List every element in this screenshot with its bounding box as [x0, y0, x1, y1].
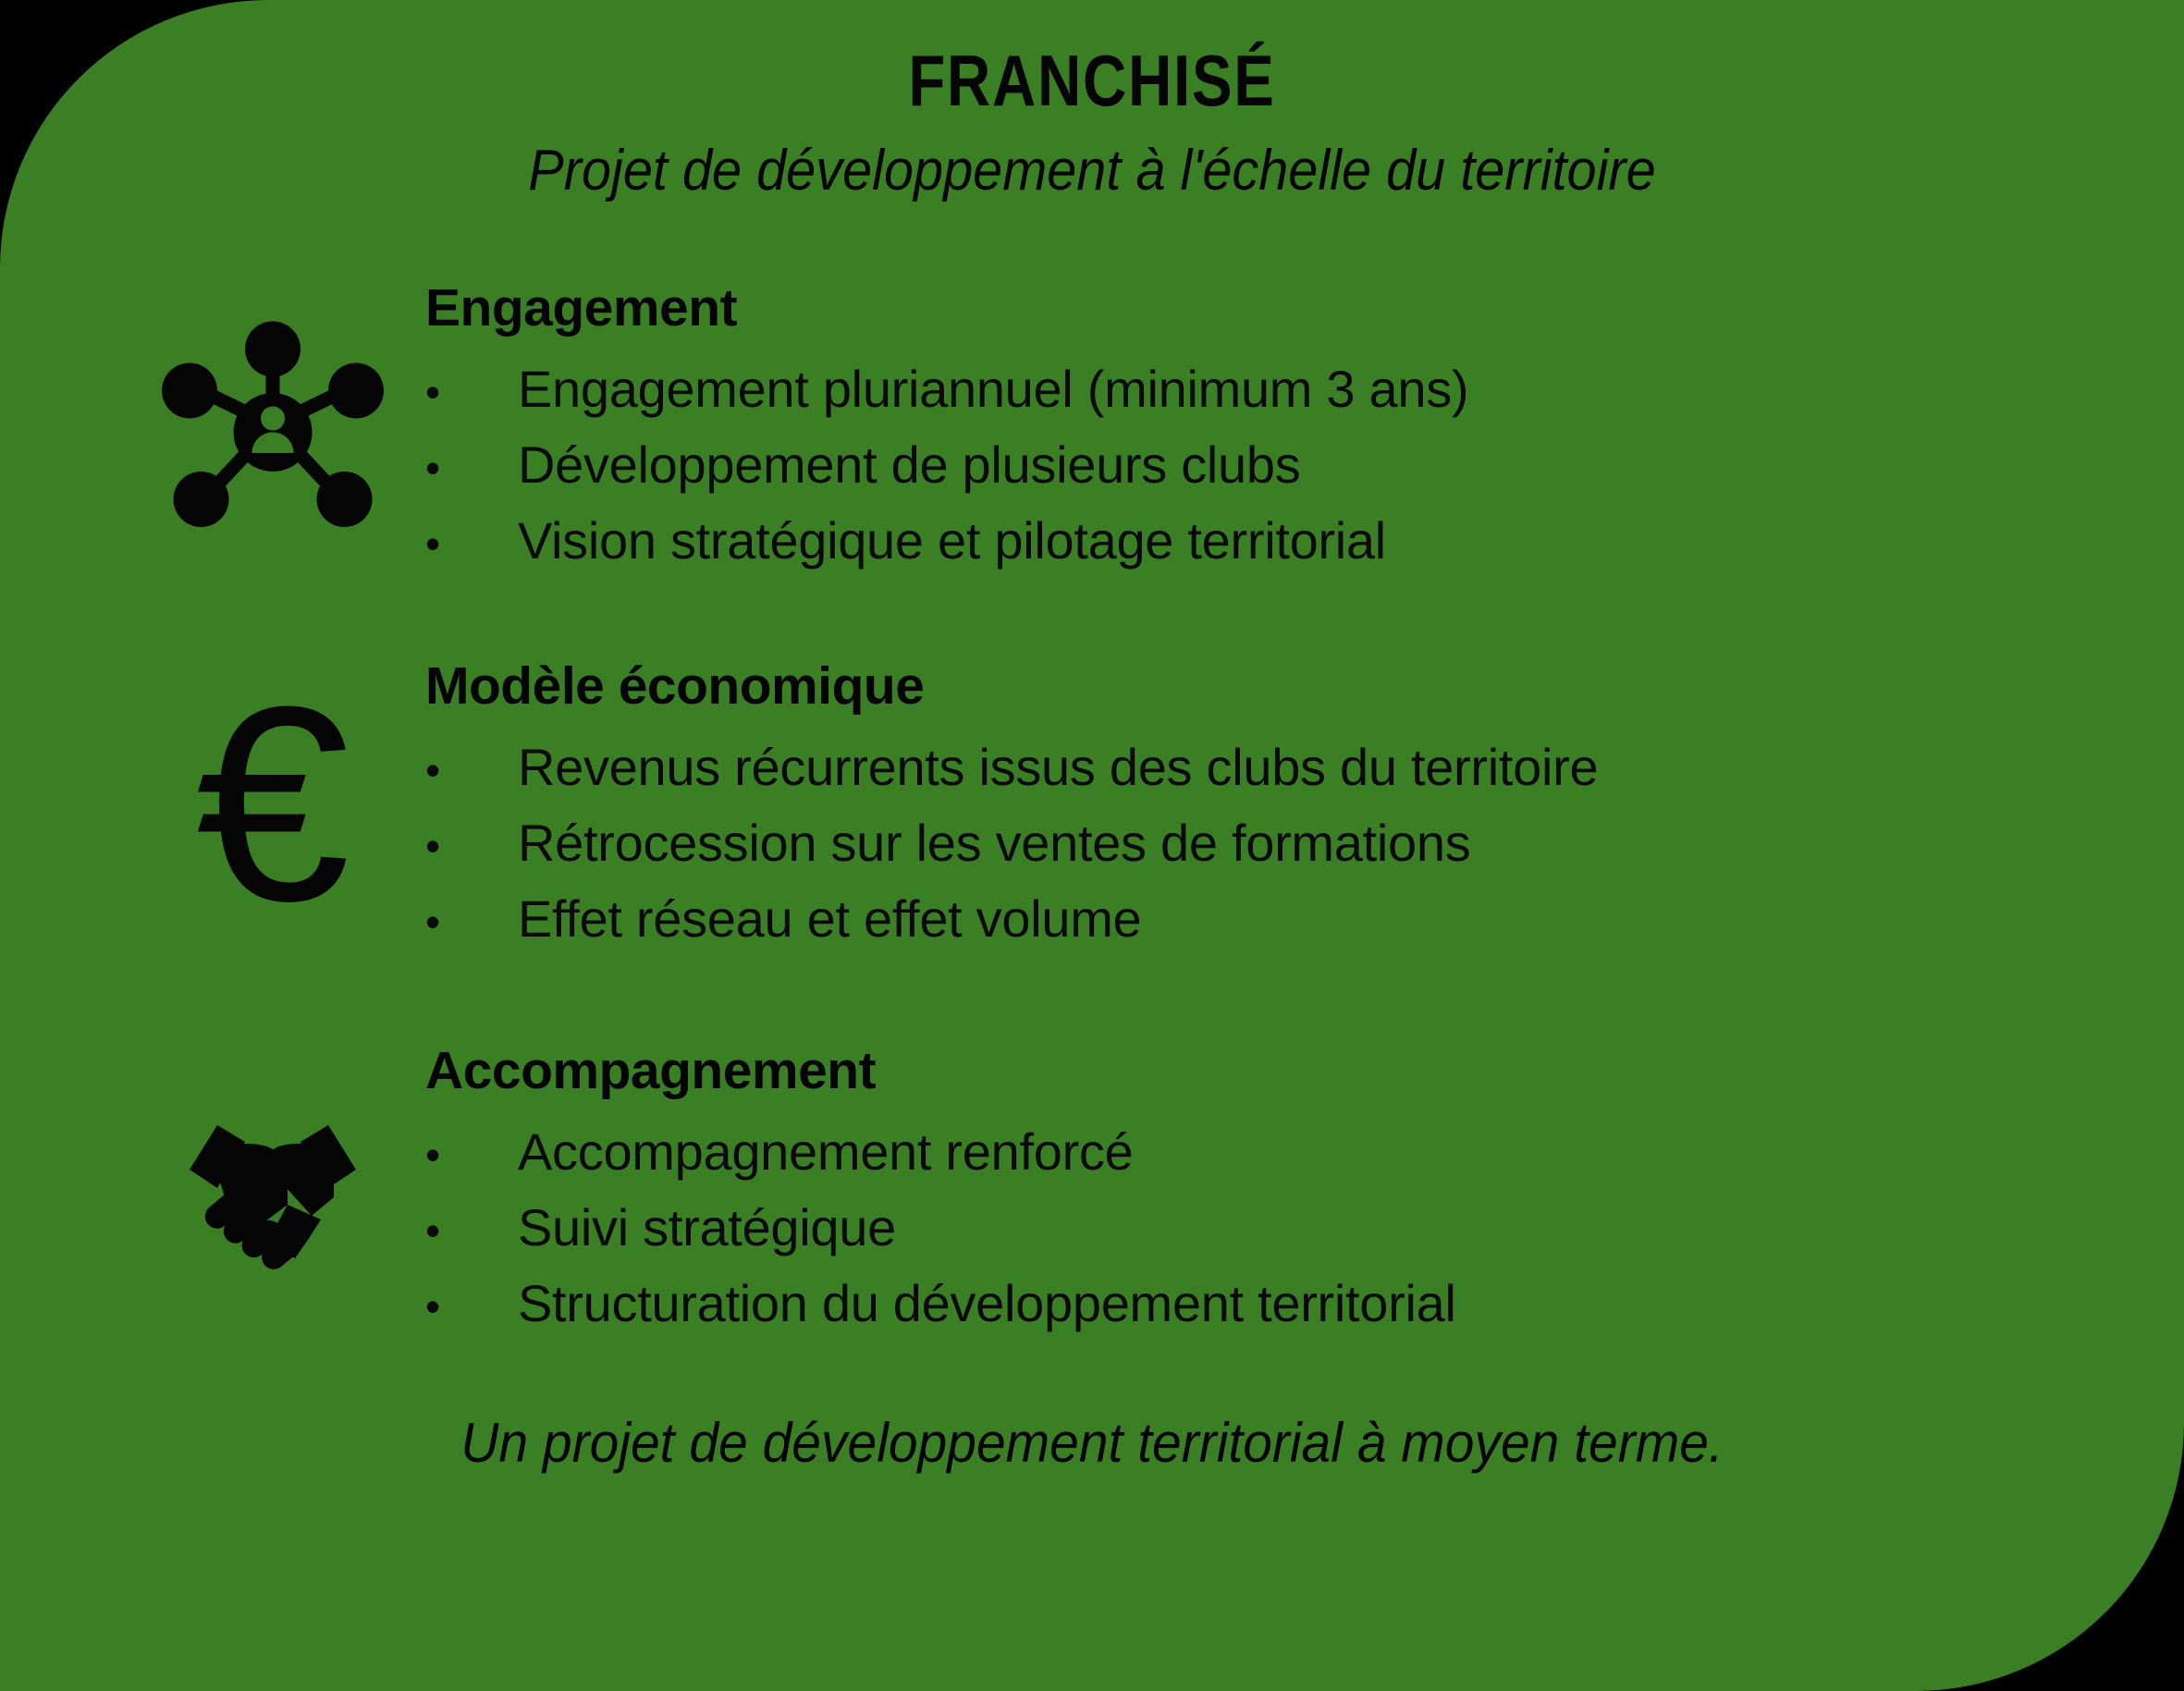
bullet-icon: •	[425, 371, 451, 413]
list-item: • Vision stratégique et pilotage territo…	[425, 510, 2129, 571]
list-item-label: Suivi stratégique	[518, 1197, 2129, 1258]
list-item-label: Revenus récurrents issus des clubs du te…	[518, 737, 2129, 798]
list-item-label: Accompagnement renforcé	[518, 1121, 2129, 1182]
list-item-label: Développement de plusieurs clubs	[518, 435, 2129, 496]
euro-currency-icon: €	[196, 695, 350, 912]
franchise-card: FRANCHISÉ Projet de développement à l'éc…	[0, 0, 2184, 1691]
section-engagement: Engagement • Engagement pluriannuel (min…	[120, 278, 2129, 571]
handshake-icon	[149, 1101, 397, 1273]
bullet-icon: •	[425, 749, 451, 791]
list-item-label: Structuration du développement territori…	[518, 1273, 2129, 1334]
list-item-label: Engagement pluriannuel (minimum 3 ans)	[518, 359, 2129, 420]
card-header: FRANCHISÉ Projet de développement à l'éc…	[0, 0, 2184, 201]
bullet-icon: •	[425, 447, 451, 489]
list-item: • Revenus récurrents issus des clubs du …	[425, 737, 2129, 798]
section-accompagnement-heading: Accompagnement	[425, 1045, 2129, 1097]
section-modele-bullets: • Revenus récurrents issus des clubs du …	[425, 737, 2129, 950]
sections-list: Engagement • Engagement pluriannuel (min…	[0, 278, 2184, 1334]
card-footer-note: Un projet de développement territorial à…	[55, 1414, 2129, 1472]
section-modele-text: Modèle économique • Revenus récurrents i…	[425, 656, 2129, 950]
bullet-icon: •	[425, 522, 451, 565]
section-accompagnement-icon-column	[120, 1101, 425, 1273]
section-engagement-heading: Engagement	[425, 282, 2129, 335]
list-item: • Accompagnement renforcé	[425, 1121, 2129, 1182]
section-accompagnement: Accompagnement • Accompagnement renforcé…	[120, 1041, 2129, 1334]
section-modele-economique: € Modèle économique • Revenus récurrents…	[120, 656, 2129, 950]
list-item: • Structuration du développement territo…	[425, 1273, 2129, 1334]
list-item: • Suivi stratégique	[425, 1197, 2129, 1258]
list-item: • Engagement pluriannuel (minimum 3 ans)	[425, 359, 2129, 420]
list-item: • Rétrocession sur les ventes de formati…	[425, 813, 2129, 874]
section-engagement-bullets: • Engagement pluriannuel (minimum 3 ans)…	[425, 359, 2129, 571]
network-hub-person-icon	[157, 319, 388, 532]
section-modele-icon-column: €	[120, 695, 425, 912]
bullet-icon: •	[425, 825, 451, 867]
section-accompagnement-text: Accompagnement • Accompagnement renforcé…	[425, 1041, 2129, 1334]
list-item-label: Effet réseau et effet volume	[518, 888, 2129, 950]
bullet-icon: •	[425, 1133, 451, 1176]
page-subtitle: Projet de développement à l'échelle du t…	[77, 141, 2108, 201]
section-modele-heading: Modèle économique	[425, 660, 2129, 713]
section-accompagnement-bullets: • Accompagnement renforcé • Suivi straté…	[425, 1121, 2129, 1334]
section-engagement-icon-column	[120, 319, 425, 532]
section-engagement-text: Engagement • Engagement pluriannuel (min…	[425, 278, 2129, 571]
bullet-icon: •	[425, 1285, 451, 1328]
page-title: FRANCHISÉ	[175, 44, 2009, 116]
list-item: • Effet réseau et effet volume	[425, 888, 2129, 950]
bullet-icon: •	[425, 901, 451, 943]
list-item-label: Rétrocession sur les ventes de formation…	[518, 813, 2129, 874]
bullet-icon: •	[425, 1209, 451, 1252]
list-item: • Développement de plusieurs clubs	[425, 435, 2129, 496]
list-item-label: Vision stratégique et pilotage territori…	[518, 510, 2129, 571]
